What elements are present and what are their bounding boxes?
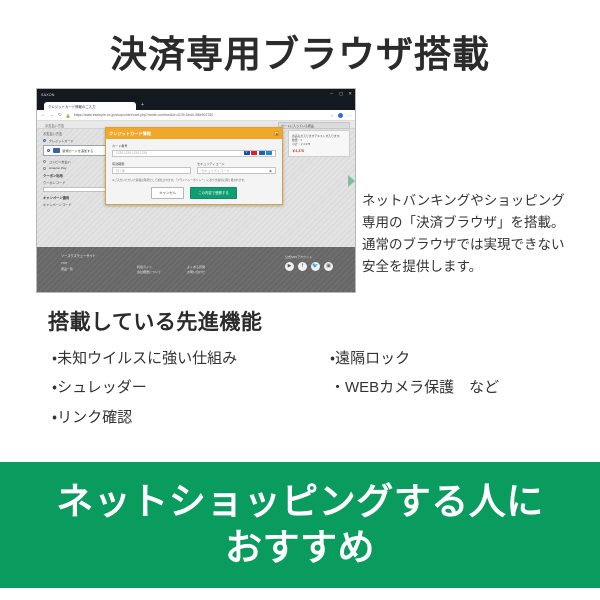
credit-card-dialog: クレジットカード情報 ▣ カード番号 1234 1234 1234 1234 V (105, 127, 283, 205)
social-label: 公式SNSアカウント (285, 255, 333, 259)
browser-addressbar[interactable]: ← → ↻ 🔒 https://www.example.co.jp/shop/o… (37, 110, 355, 121)
minimize-icon[interactable]: － (329, 91, 334, 96)
help-icon[interactable]: ◉ (269, 169, 272, 173)
banner-line-2: おすすめ (225, 525, 375, 571)
feature-item: ・遠隔ロック (330, 344, 580, 373)
browser-titlebar: SAXON － ▢ ✕ (37, 89, 355, 100)
dialog-body: カード番号 1234 1234 1234 1234 V 有効期限 (106, 139, 282, 204)
feature-item: ・WEBカメラ保護 など (330, 373, 580, 402)
banner-line-1: ネットショッピングする人に (56, 479, 544, 525)
web-page-body: お支払い方法 お支払い方法 クレジットカード 新規カードを追加する コンビニ支払… (37, 121, 355, 249)
footer-column-1: ソースクステューサイト TOP 商品一覧 (61, 254, 96, 272)
payment-option-label: コンビニ支払い (49, 159, 71, 164)
addressbar-actions[interactable]: ☆ ⋯ (330, 113, 351, 118)
expiry-cvc-row: 有効期限 月 / 年 セキュリティコード セキュリティコード ◉ (112, 161, 276, 179)
card-brand-icons: V (244, 151, 273, 155)
dialog-header: クレジットカード情報 ▣ (106, 128, 282, 139)
cvc-placeholder: セキュリティコード (201, 168, 230, 173)
facebook-icon[interactable]: f (298, 262, 307, 271)
footer-heading: ソースクステューサイト (61, 254, 96, 259)
expiry-input[interactable]: 月 / 年 (112, 167, 191, 174)
nav-icons[interactable]: ← → ↻ (41, 112, 62, 118)
visa-icon: V (244, 151, 250, 155)
footer-column-2: 利用ガイド 会社概要について (137, 265, 161, 275)
description-line: 専用の「決済ブラウザ」を搭載。 (362, 212, 592, 234)
cart-summary-panel: 商品名が入りますテキストが入ります。 数量：1 小計：￥4,378 ￥4,378 (288, 130, 350, 157)
window-controls[interactable]: － ▢ ✕ (329, 91, 352, 96)
footer-link[interactable]: 商品一覧 (61, 267, 96, 272)
cancel-button[interactable]: キャンセル (151, 187, 184, 199)
card-number-label: カード番号 (112, 143, 276, 148)
profile-avatar[interactable] (338, 113, 343, 118)
footer-link[interactable]: 会社概要について (137, 270, 161, 275)
features-heading: 搭載している先進機能 (48, 306, 262, 336)
cvc-label: セキュリティコード (197, 161, 276, 166)
dialog-title: クレジットカード情報 (109, 131, 151, 137)
expiry-label: 有効期限 (112, 161, 191, 166)
social-icons[interactable]: ▶ f 🐦 ▣ (285, 262, 333, 271)
page-title: 決済専用ブラウザ搭載 (0, 24, 600, 78)
cart-subtotal: 小計：￥4,378 (292, 142, 346, 146)
payment-option-label: Amazon Pay (49, 166, 67, 170)
footer-link[interactable]: お問い合わせ (187, 270, 205, 275)
feature-item: ・リンク確認 (52, 403, 332, 432)
cart-total: ￥4,378 (292, 148, 346, 153)
feature-item: ・シュレッダー (52, 373, 332, 402)
line-icon[interactable]: ▣ (324, 262, 333, 271)
arrow-right-icon (348, 175, 355, 187)
cart-panel-title: カートに入っている商品 (278, 122, 350, 129)
dialog-note: ※ご入力いただいた情報は暗号化して送信されます。「プライバシーポリシー」に基づき… (112, 179, 276, 183)
radio-icon[interactable] (43, 167, 46, 170)
back-icon[interactable]: ← (41, 112, 46, 118)
reload-icon[interactable]: ↻ (58, 112, 62, 118)
dialog-buttons: キャンセル この内容で登録する (112, 187, 276, 199)
card-number-placeholder: 1234 1234 1234 1234 (116, 151, 147, 155)
radio-icon[interactable] (43, 139, 46, 142)
star-icon[interactable]: ☆ (330, 113, 334, 118)
product-feature-card: 決済専用ブラウザ搭載 SAXON － ▢ ✕ クレジットカード情報のご入力 + … (0, 0, 600, 600)
credit-card-icon (53, 148, 60, 153)
url-text[interactable]: https://www.example.co.jp/shop/order/car… (74, 113, 214, 117)
footer-social: 公式SNSアカウント ▶ f 🐦 ▣ (285, 255, 333, 271)
payment-option-label: クレジットカード (49, 138, 74, 143)
radio-icon[interactable] (47, 149, 50, 152)
cvc-input[interactable]: セキュリティコード ◉ (197, 167, 276, 174)
amex-icon (266, 151, 272, 155)
maximize-icon[interactable]: ▢ (339, 91, 343, 96)
confirm-button[interactable]: この内容で登録する (190, 187, 237, 199)
new-tab-button[interactable]: + (141, 103, 144, 108)
dialog-close-icon[interactable]: ▣ (274, 131, 279, 136)
twitter-icon[interactable]: 🐦 (311, 262, 320, 271)
menu-icon[interactable]: ⋯ (347, 113, 351, 118)
expiry-placeholder: 月 / 年 (116, 168, 125, 173)
close-icon[interactable]: ✕ (348, 91, 352, 96)
mastercard-icon (251, 151, 257, 155)
lock-icon: 🔒 (66, 113, 71, 118)
browser-brand: SAXON (41, 93, 55, 97)
recommendation-banner: ネットショッピングする人に おすすめ (0, 462, 600, 588)
browser-screenshot: SAXON － ▢ ✕ クレジットカード情報のご入力 + ← → ↻ 🔒 htt… (36, 88, 356, 293)
feature-item: ・未知ウイルスに強い仕組み (52, 344, 332, 373)
description-line: 安全を提供します。 (362, 256, 592, 278)
description-block: ネットバンキングやショッピング 専用の「決済ブラウザ」を搭載。 通常のブラウザで… (362, 190, 592, 277)
radio-icon[interactable] (43, 160, 46, 163)
description-line: 通常のブラウザでは実現できない (362, 234, 592, 256)
features-left-column: ・未知ウイルスに強い仕組み ・シュレッダー ・リンク確認 (52, 344, 332, 432)
forward-icon[interactable]: → (50, 112, 55, 118)
add-card-label: 新規カードを追加する (62, 148, 93, 153)
youtube-icon[interactable]: ▶ (285, 262, 294, 271)
card-number-input[interactable]: 1234 1234 1234 1234 V (112, 150, 276, 157)
browser-tabstrip: クレジットカード情報のご入力 + (37, 100, 355, 110)
web-page-footer: ソースクステューサイト TOP 商品一覧 利用ガイド 会社概要について よくある… (37, 247, 355, 292)
features-right-column: ・遠隔ロック ・WEBカメラ保護 など (330, 344, 580, 403)
footer-column-3: よくある質問 お問い合わせ (187, 265, 205, 275)
jcb-icon (259, 151, 265, 155)
description-line: ネットバンキングやショッピング (362, 190, 592, 212)
